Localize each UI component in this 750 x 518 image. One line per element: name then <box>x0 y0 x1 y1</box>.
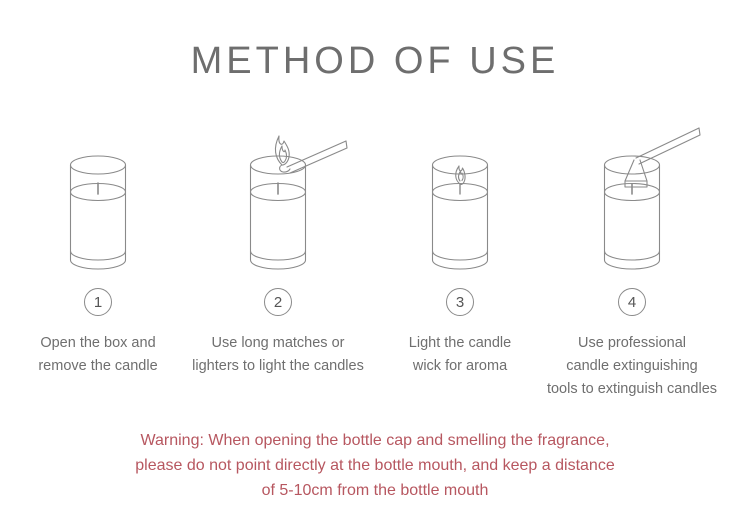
step-number-badge-2: 2 <box>183 288 373 316</box>
step-number-badge-4: 4 <box>537 288 727 316</box>
step-number-badge-3: 3 <box>365 288 555 316</box>
step-number-2: 2 <box>264 288 292 316</box>
step-number-badge-1: 1 <box>3 288 193 316</box>
warning-line: Warning: When opening the bottle cap and… <box>0 428 750 453</box>
warning-text: Warning: When opening the bottle cap and… <box>0 428 750 503</box>
caption-line: Use professional <box>525 332 739 355</box>
candle-jar-with-snuffer-icon <box>537 110 727 280</box>
step-caption-4: Use professional candle extinguishing to… <box>525 332 739 401</box>
caption-line: candle extinguishing <box>525 355 739 378</box>
method-of-use-infographic: METHOD OF USE <box>0 0 750 518</box>
steps-row: 1 Open the box and remove the candle <box>0 110 750 420</box>
step-number-1: 1 <box>84 288 112 316</box>
warning-line: of 5-10cm from the bottle mouth <box>0 478 750 503</box>
caption-line: tools to extinguish candles <box>525 378 739 401</box>
warning-line: please do not point directly at the bott… <box>0 453 750 478</box>
step-1: 1 Open the box and remove the candle <box>3 110 193 420</box>
step-2: 2 Use long matches or lighters to light … <box>183 110 373 420</box>
candle-jar-with-lit-match-icon <box>183 110 373 280</box>
step-4: 4 Use professional candle extinguishing … <box>537 110 727 420</box>
candle-jar-unlit-icon <box>3 110 193 280</box>
step-number-3: 3 <box>446 288 474 316</box>
page-title: METHOD OF USE <box>0 40 750 83</box>
candle-jar-lit-icon <box>365 110 555 280</box>
step-number-4: 4 <box>618 288 646 316</box>
